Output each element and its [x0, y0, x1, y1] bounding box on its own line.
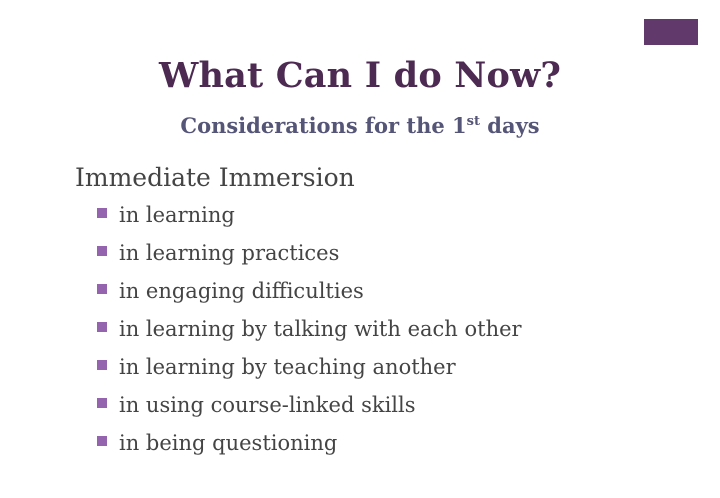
- list-item-label: in learning by teaching another: [119, 352, 456, 382]
- subtitle-ordinal-superscript: st: [467, 114, 480, 129]
- accent-block-decoration: [644, 19, 698, 45]
- subtitle-text-before: Considerations for the 1: [180, 113, 466, 138]
- square-bullet-icon: [97, 398, 107, 408]
- list-item-label: in learning by talking with each other: [119, 314, 522, 344]
- list-item-label: in learning practices: [119, 238, 339, 268]
- list-item-label: in being questioning: [119, 428, 337, 458]
- square-bullet-icon: [97, 360, 107, 370]
- list-item-label: in using course-linked skills: [119, 390, 416, 420]
- slide-body: Immediate Immersion in learning in learn…: [75, 162, 695, 466]
- square-bullet-icon: [97, 208, 107, 218]
- page-subtitle: Considerations for the 1st days: [0, 113, 720, 139]
- list-item: in learning practices: [75, 238, 695, 276]
- body-heading: Immediate Immersion: [75, 162, 695, 194]
- subtitle-text-after: days: [480, 113, 540, 138]
- slide-canvas: What Can I do Now? Considerations for th…: [0, 0, 720, 498]
- list-item: in learning by teaching another: [75, 352, 695, 390]
- square-bullet-icon: [97, 322, 107, 332]
- page-title: What Can I do Now?: [0, 55, 720, 97]
- square-bullet-icon: [97, 284, 107, 294]
- list-item-label: in learning: [119, 200, 235, 230]
- list-item: in learning by talking with each other: [75, 314, 695, 352]
- list-item: in learning: [75, 200, 695, 238]
- square-bullet-icon: [97, 436, 107, 446]
- list-item-label: in engaging difficulties: [119, 276, 364, 306]
- bullet-list: in learning in learning practices in eng…: [75, 200, 695, 466]
- list-item: in being questioning: [75, 428, 695, 466]
- square-bullet-icon: [97, 246, 107, 256]
- list-item: in using course-linked skills: [75, 390, 695, 428]
- list-item: in engaging difficulties: [75, 276, 695, 314]
